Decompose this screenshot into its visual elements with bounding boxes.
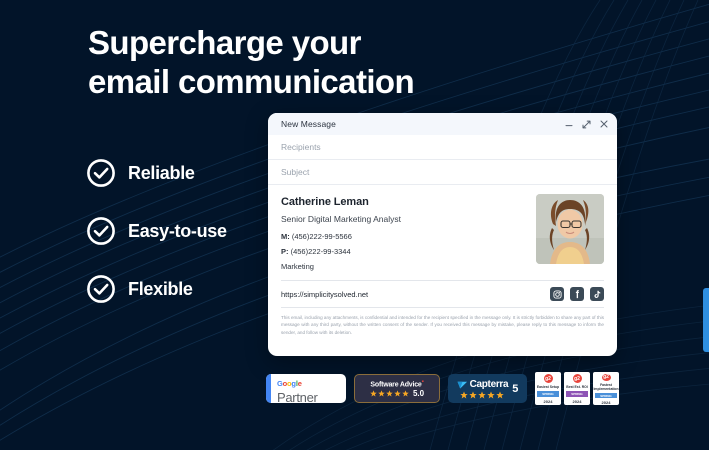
subject-field[interactable]: Subject: [268, 160, 617, 185]
recipients-placeholder: Recipients: [281, 142, 321, 152]
award-badges: Google Partner Software Advice▪ 5.0: [266, 372, 619, 405]
software-advice-label: Software Advice: [370, 381, 421, 388]
google-partner-label: Partner: [277, 391, 318, 404]
feature-item-easy-to-use: Easy-to-use: [86, 213, 227, 249]
badge-capterra: Capterra 5: [448, 374, 527, 403]
feature-label: Reliable: [128, 163, 195, 184]
signature-links-row: https://simplicitysolved.net: [268, 281, 617, 307]
g2-badge-year: 2024: [573, 399, 582, 404]
g2-badge-year: 2024: [602, 400, 611, 405]
signature-mobile-label: M:: [281, 232, 290, 241]
g2-badge-year: 2024: [544, 399, 553, 404]
feature-label: Flexible: [128, 279, 193, 300]
g2-badge-group: g2 Easiest Setup SPRING 2024 g2 Best Est…: [535, 372, 619, 405]
expand-icon[interactable]: [582, 120, 591, 129]
email-compose-window: New Message: [268, 113, 617, 356]
software-advice-title: Software Advice▪: [370, 379, 423, 388]
g2-badge-label: Best Est. ROI: [565, 385, 588, 389]
software-advice-stars: 5.0: [370, 389, 424, 398]
minimize-icon[interactable]: [565, 120, 573, 128]
close-icon[interactable]: [600, 120, 608, 128]
signature-phone-value: (456)222-99-3344: [291, 247, 351, 256]
g2-logo-icon: g2: [573, 374, 582, 383]
window-title: New Message: [281, 119, 565, 129]
g2-badge-ribbon: SPRING: [537, 391, 559, 397]
capterra-label: Capterra: [470, 379, 509, 390]
social-links: [550, 287, 604, 301]
g2-badge-best-est-roi: g2 Best Est. ROI SPRING 2024: [564, 372, 590, 405]
g2-logo-icon: g2: [602, 374, 611, 381]
software-advice-score: 5.0: [413, 389, 424, 398]
feature-label: Easy-to-use: [128, 221, 227, 242]
window-titlebar: New Message: [268, 113, 617, 135]
recipients-field[interactable]: Recipients: [268, 135, 617, 160]
feature-list: Reliable Easy-to-use Flexible: [86, 155, 227, 307]
instagram-icon[interactable]: [550, 287, 564, 301]
avatar: [536, 194, 604, 264]
capterra-logo-icon: [457, 379, 468, 390]
google-accent-bar: [266, 374, 271, 403]
feature-item-flexible: Flexible: [86, 271, 227, 307]
headline-line-2: email communication: [88, 63, 414, 102]
facebook-icon[interactable]: [570, 287, 584, 301]
check-circle-icon: [86, 274, 116, 304]
tiktok-icon[interactable]: [590, 287, 604, 301]
capterra-score: 5: [512, 383, 518, 395]
badge-software-advice: Software Advice▪ 5.0: [354, 374, 440, 403]
badge-google-partner: Google Partner: [266, 374, 346, 403]
g2-badge-label: Easiest Setup: [536, 385, 560, 389]
google-wordmark: Google: [277, 379, 302, 388]
window-controls: [565, 120, 608, 129]
headline-line-1: Supercharge your: [88, 24, 414, 63]
feature-item-reliable: Reliable: [86, 155, 227, 191]
g2-logo-icon: g2: [544, 374, 553, 383]
g2-badge-easiest-setup: g2 Easiest Setup SPRING 2024: [535, 372, 561, 405]
accent-bar: [703, 288, 709, 352]
signature-phone-label: P:: [281, 247, 289, 256]
g2-badge-label: Fastest Implementation: [593, 383, 619, 392]
poster-canvas: Supercharge your email communication Rel…: [0, 0, 709, 450]
capterra-stars: [460, 391, 504, 399]
check-circle-icon: [86, 216, 116, 246]
g2-badge-ribbon: SPRING: [595, 393, 617, 398]
website-link[interactable]: https://simplicitysolved.net: [281, 290, 550, 299]
g2-badge-fastest-implementation: g2 Fastest Implementation SPRING 2024: [593, 372, 619, 405]
check-circle-icon: [86, 158, 116, 188]
email-disclaimer: This email, including any attachments, i…: [268, 308, 617, 336]
signature-mobile-value: (456)222-99-5566: [292, 232, 352, 241]
g2-badge-ribbon: SPRING: [566, 391, 588, 397]
email-signature: Catherine Leman Senior Digital Marketing…: [268, 185, 617, 271]
page-title: Supercharge your email communication: [88, 24, 414, 101]
subject-placeholder: Subject: [281, 167, 309, 177]
